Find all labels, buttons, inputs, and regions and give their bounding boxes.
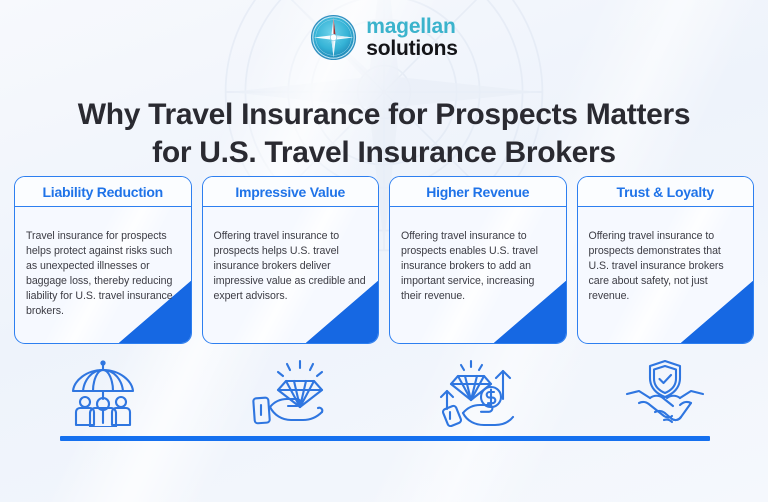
card-description: Offering travel insurance to prospects h…	[214, 229, 368, 304]
compass-rose-icon	[310, 14, 357, 61]
benefit-icon-row	[14, 354, 754, 430]
benefit-card-liability-reduction: Liability Reduction Travel insurance for…	[14, 176, 192, 344]
card-description: Travel insurance for prospects helps pro…	[26, 229, 180, 319]
bottom-accent-bar	[60, 436, 710, 441]
umbrella-over-people-icon	[64, 357, 142, 427]
card-header: Trust & Loyalty	[578, 177, 754, 207]
icon-cell-liability	[14, 354, 192, 430]
hand-holding-diamond-icon	[248, 357, 332, 427]
card-body: Offering travel insurance to prospects e…	[390, 207, 566, 343]
benefit-card-higher-revenue: Higher Revenue Offering travel insurance…	[389, 176, 567, 344]
page-title-line2: for U.S. Travel Insurance Brokers	[0, 134, 768, 172]
card-body: Offering travel insurance to prospects d…	[578, 207, 754, 343]
brand-name-secondary: solutions	[366, 38, 458, 59]
benefit-card-trust-loyalty: Trust & Loyalty Offering travel insuranc…	[577, 176, 755, 344]
brand-logo: magellan solutions	[0, 14, 768, 61]
card-title: Trust & Loyalty	[617, 184, 714, 200]
card-description: Offering travel insurance to prospects d…	[589, 229, 743, 304]
card-title: Higher Revenue	[426, 184, 529, 200]
page-title: Why Travel Insurance for Prospects Matte…	[0, 96, 768, 173]
card-body: Offering travel insurance to prospects h…	[203, 207, 379, 343]
page-title-line1: Why Travel Insurance for Prospects Matte…	[0, 96, 768, 134]
card-header: Higher Revenue	[390, 177, 566, 207]
card-title: Impressive Value	[235, 184, 345, 200]
infographic-canvas: magellan solutions Why Travel Insurance …	[0, 0, 768, 502]
icon-cell-impressive-value	[202, 354, 380, 430]
hand-diamond-dollar-growth-icon	[433, 357, 523, 427]
card-header: Impressive Value	[203, 177, 379, 207]
benefit-card-list: Liability Reduction Travel insurance for…	[14, 176, 754, 344]
handshake-shield-check-icon	[622, 357, 708, 427]
brand-name-primary: magellan	[366, 16, 458, 37]
card-body: Travel insurance for prospects helps pro…	[15, 207, 191, 343]
card-header: Liability Reduction	[15, 177, 191, 207]
icon-cell-trust-loyalty	[577, 354, 755, 430]
benefit-card-impressive-value: Impressive Value Offering travel insuran…	[202, 176, 380, 344]
icon-cell-higher-revenue	[389, 354, 567, 430]
card-description: Offering travel insurance to prospects e…	[401, 229, 555, 304]
card-title: Liability Reduction	[43, 184, 163, 200]
